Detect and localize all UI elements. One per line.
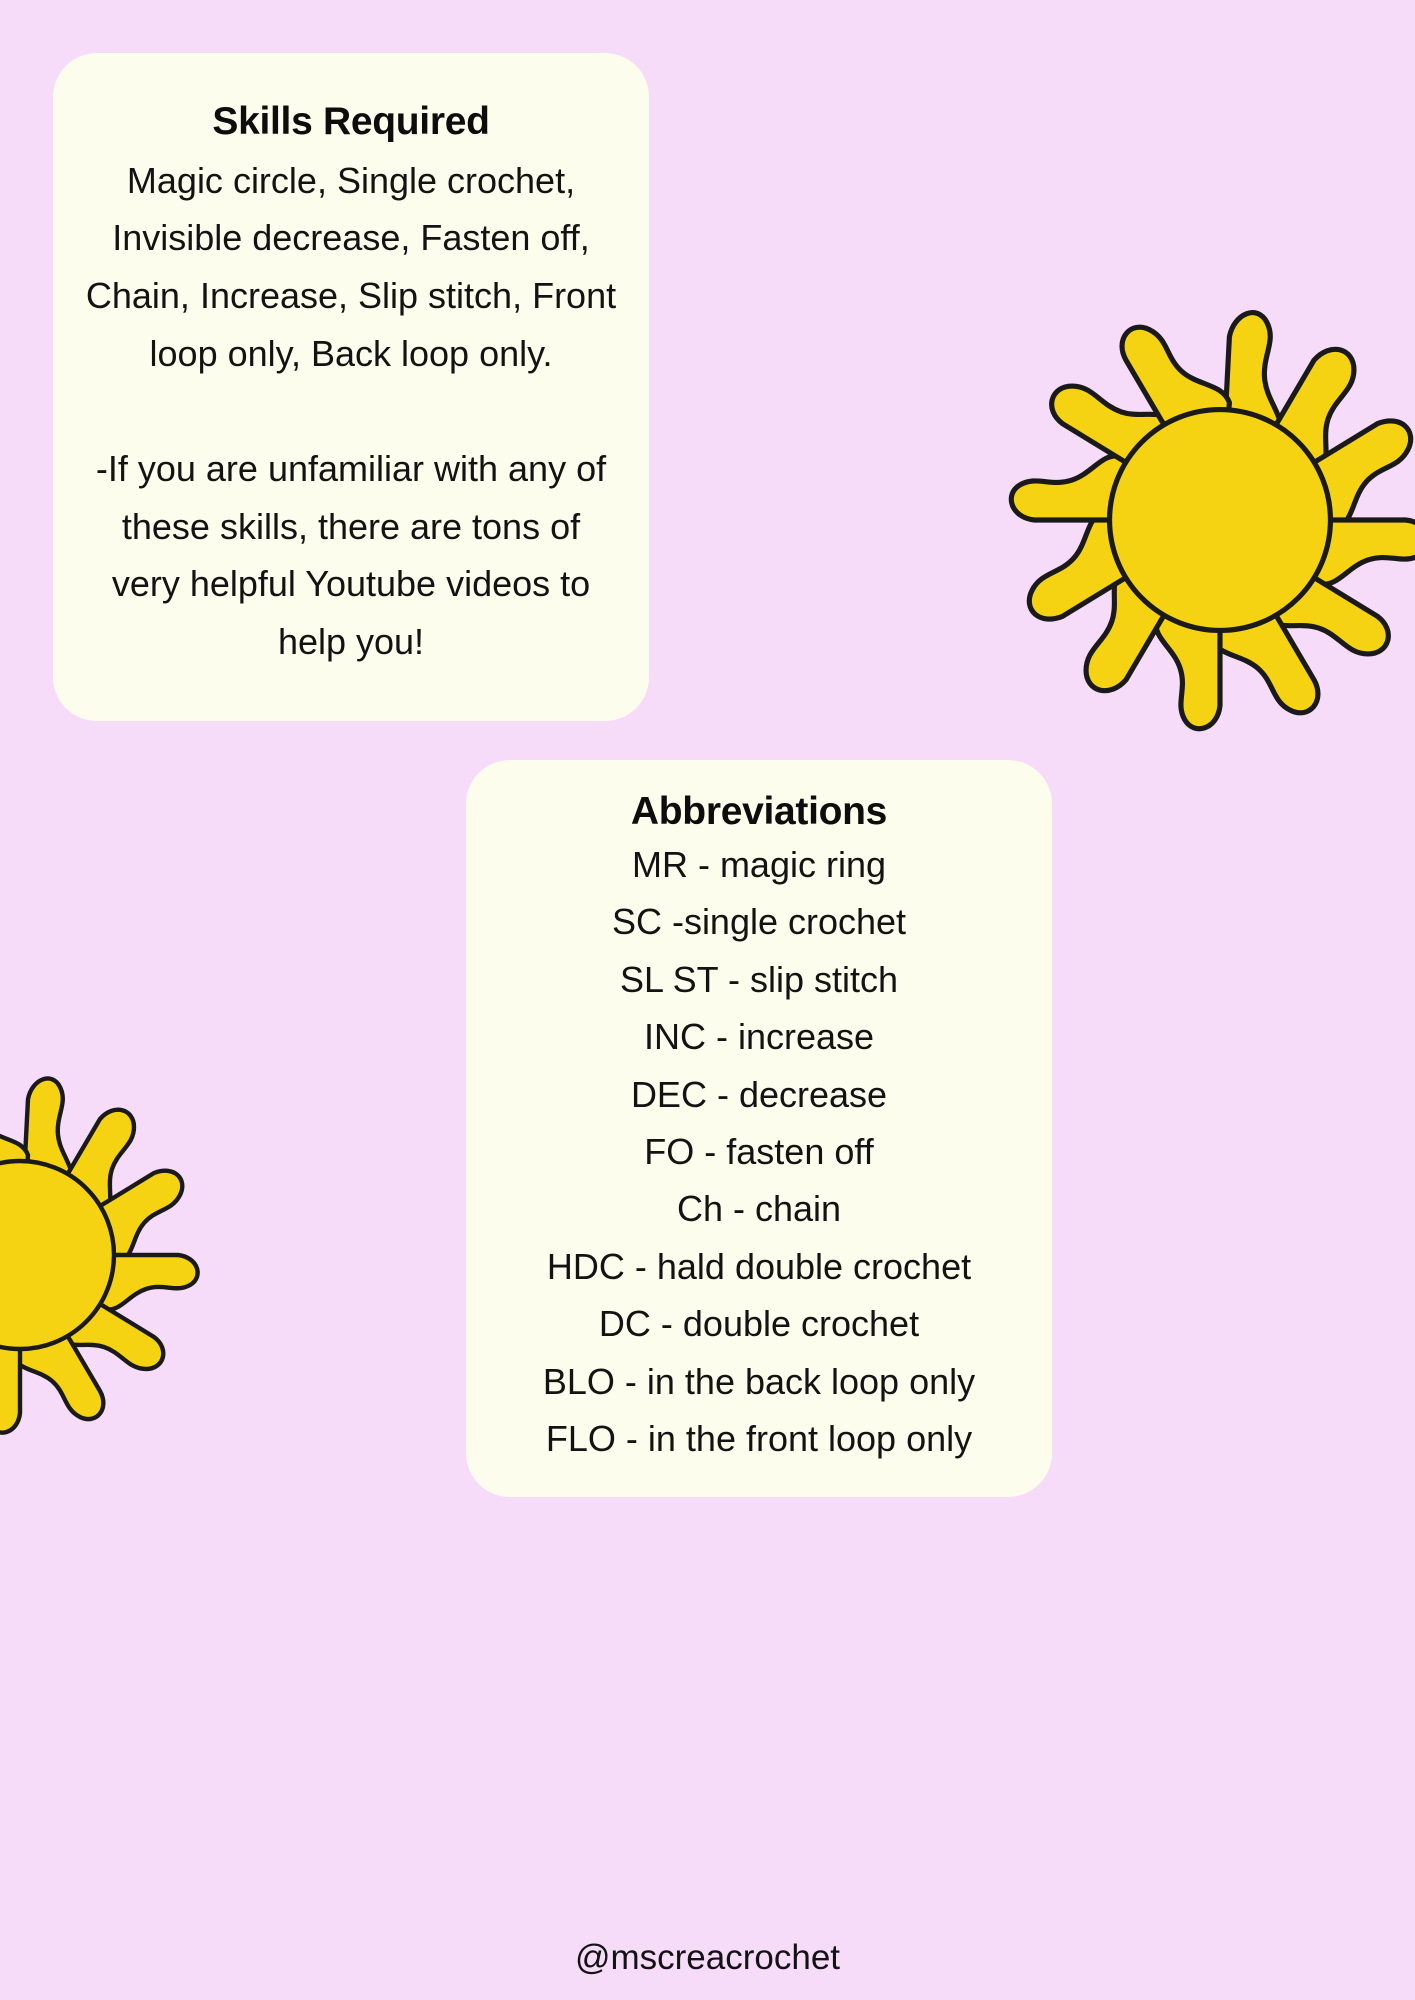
- list-item: SC -single crochet: [492, 893, 1026, 950]
- list-item: FO - fasten off: [492, 1123, 1026, 1180]
- list-item: INC - increase: [492, 1008, 1026, 1065]
- footer-handle: @mscreacrochet: [0, 1938, 1415, 1978]
- list-item: MR - magic ring: [492, 836, 1026, 893]
- list-item: DC - double crochet: [492, 1295, 1026, 1352]
- skills-required-title: Skills Required: [83, 99, 619, 146]
- list-item: BLO - in the back loop only: [492, 1353, 1026, 1410]
- abbreviations-title: Abbreviations: [492, 790, 1026, 834]
- sun-icon-bottom-left: [0, 1055, 220, 1455]
- poster-page: Skills Required Magic circle, Single cro…: [0, 0, 1415, 2000]
- skills-required-note: -If you are unfamiliar with any of these…: [83, 382, 619, 670]
- list-item: DEC - decrease: [492, 1066, 1026, 1123]
- list-item: SL ST - slip stitch: [492, 951, 1026, 1008]
- list-item: HDC - hald double crochet: [492, 1238, 1026, 1295]
- abbreviations-card: Abbreviations MR - magic ring SC -single…: [466, 760, 1052, 1497]
- skills-required-card: Skills Required Magic circle, Single cro…: [53, 53, 649, 721]
- list-item: FLO - in the front loop only: [492, 1410, 1026, 1467]
- sun-icon-top-right: [985, 285, 1415, 755]
- list-item: Ch - chain: [492, 1180, 1026, 1237]
- abbreviations-list: MR - magic ring SC -single crochet SL ST…: [492, 836, 1026, 1467]
- skills-required-body: Magic circle, Single crochet, Invisible …: [83, 152, 619, 382]
